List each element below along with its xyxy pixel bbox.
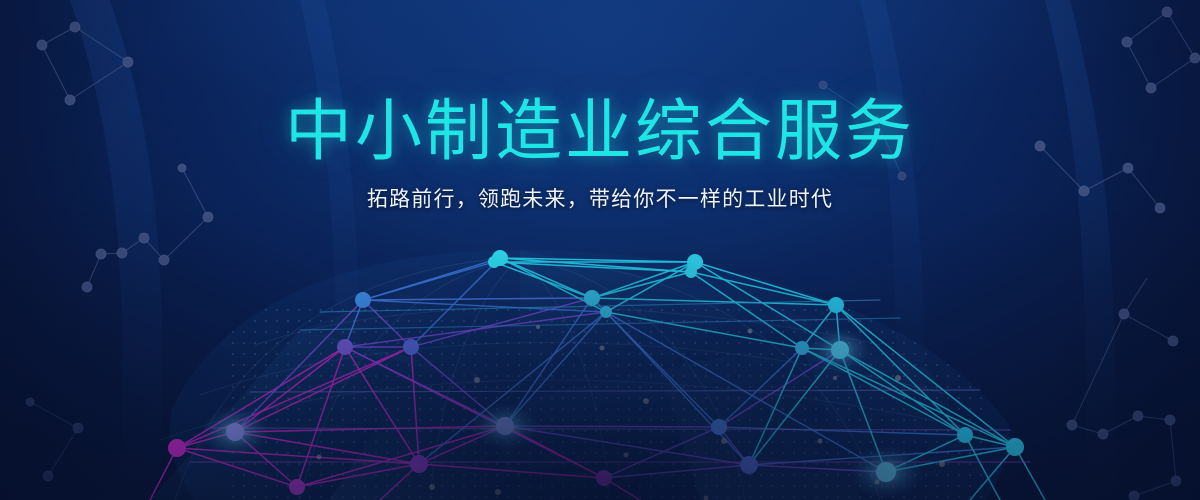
constellation-right-large: [1067, 278, 1181, 500]
page-title: 中小制造业综合服务: [0, 96, 1200, 167]
node-halos: [201, 328, 924, 499]
constellation-bottom-left: [26, 398, 83, 481]
network-dome-graphic: [0, 0, 1200, 500]
vignette-overlay: [0, 0, 1200, 500]
constellation-top-left: [37, 22, 133, 105]
background-light-streaks: [0, 0, 1200, 500]
hero-text-block: 中小制造业综合服务 拓路前行，领跑未来，带给你不一样的工业时代: [0, 96, 1200, 213]
constellation-top-right: [1122, 7, 1200, 93]
page-subtitle: 拓路前行，领跑未来，带给你不一样的工业时代: [0, 183, 1200, 213]
dome-nodes: [168, 250, 1024, 495]
hero-banner: 中小制造业综合服务 拓路前行，领跑未来，带给你不一样的工业时代: [0, 0, 1200, 500]
dust-particles: [317, 325, 946, 500]
background-constellations: [0, 0, 1200, 500]
